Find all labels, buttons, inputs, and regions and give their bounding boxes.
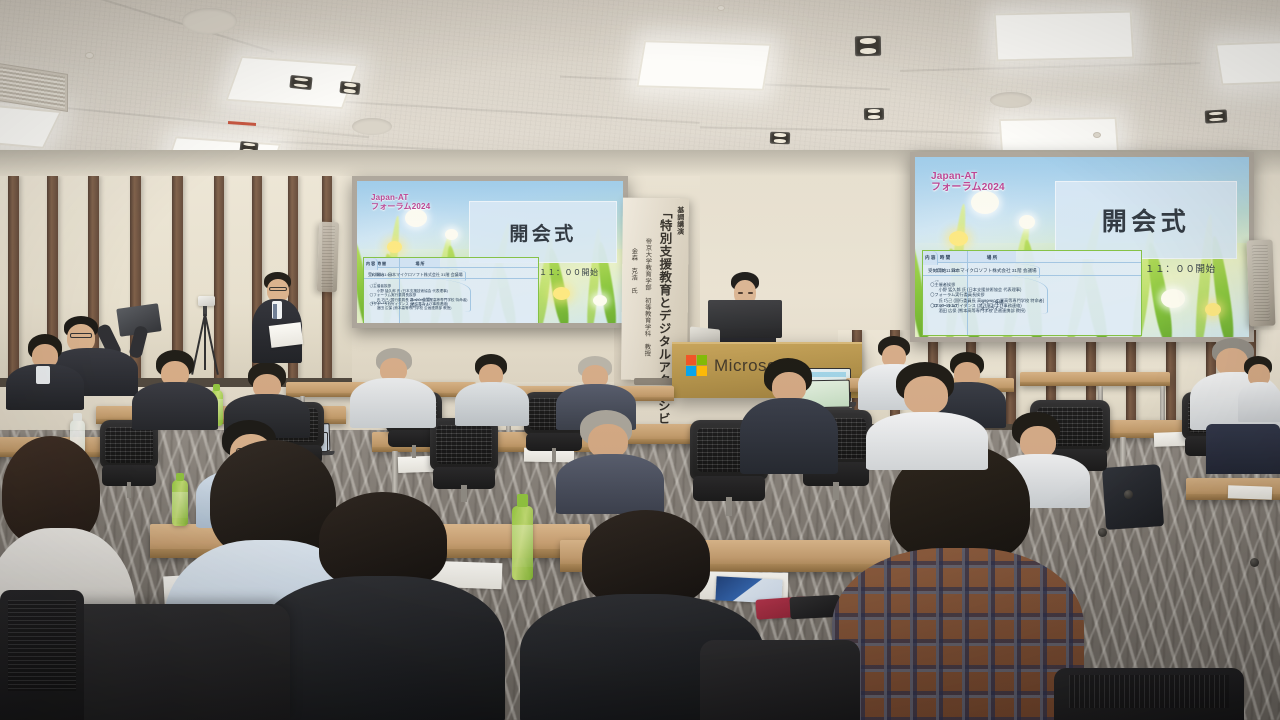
slide-logo-right: Japan-AT フォーラム2024 — [931, 172, 1005, 194]
attendee-far-right — [1238, 356, 1280, 422]
wall-speaker-left — [317, 222, 339, 293]
held-document — [269, 322, 303, 348]
smoke-detector — [1093, 132, 1101, 138]
chair-foreground-left — [60, 604, 290, 720]
conference-room-photo: Japan-AT フォーラム2024 開会式 １１：００開始 時 間 内 容 場… — [0, 0, 1280, 720]
wall-speaker-right — [1247, 240, 1276, 327]
smoke-detector — [85, 52, 94, 59]
chair-foreground-far-left — [0, 590, 84, 720]
attendee-front-plaid-shirt — [832, 444, 1084, 720]
staff-reading-document — [250, 272, 304, 368]
chair-foreground-center — [700, 640, 860, 720]
attendee-mid-center — [556, 410, 664, 512]
table-header-row: 時 間 内 容 場 所 — [364, 258, 538, 268]
slide-schedule-table-left: 時 間 内 容 場 所 10:30-11:00 受付開始 日本マイクロソフト株式… — [363, 257, 539, 323]
banner-speaker: 金森 克浩 氏 — [629, 248, 638, 294]
slide-right: Japan-AT フォーラム2024 開会式 １１：００開始 時 間 内 容 場… — [915, 157, 1249, 337]
chair-caster — [1124, 490, 1133, 499]
ceiling-diffuser — [352, 118, 392, 135]
slide-schedule-table-right: 時 間 内 容 場 所 10:30-11:00 受付開始 日本マイクロソフト株式… — [922, 250, 1142, 336]
slide-logo-left: Japan-AT フォーラム2024 — [371, 194, 430, 211]
ceiling-light-panel — [636, 40, 771, 91]
table-header-row: 時 間 内 容 場 所 — [923, 251, 1141, 263]
ceiling-diffuser — [182, 8, 237, 34]
table-row: 11:00-11:10 開会式 〇主催者挨拶 小野 猛久郎 氏 (日本支援技術協… — [364, 279, 538, 323]
ceiling-diffuser — [990, 92, 1032, 108]
smoke-detector — [717, 5, 725, 11]
microsoft-logo — [686, 355, 707, 376]
table-row: 10:30-11:00 受付開始 日本マイクロソフト株式会社 31階 会議場 — [364, 268, 538, 279]
projection-screen-right: Japan-AT フォーラム2024 開会式 １１：００開始 時 間 内 容 場… — [910, 152, 1254, 342]
slide-left: Japan-AT フォーラム2024 開会式 １１：００開始 時 間 内 容 場… — [357, 181, 623, 323]
table-row: 10:30-11:00 受付開始 日本マイクロソフト株式会社 31階 会議場 — [923, 263, 1141, 276]
ceiling-light-panel — [1215, 41, 1280, 86]
attendee-back-left-1 — [6, 334, 84, 410]
attendee-back-left-2 — [132, 350, 218, 428]
attendee-front-dark-suit — [255, 492, 505, 720]
slide-start-note-right: １１：００開始 — [1145, 261, 1216, 275]
ceiling-spotlight — [339, 81, 360, 95]
ceiling-spotlight — [864, 108, 884, 120]
projection-screen-left: Japan-AT フォーラム2024 開会式 １１：００開始 時 間 内 容 場… — [352, 176, 628, 328]
chair-caster — [1250, 558, 1259, 567]
attendee-center-back-2 — [455, 354, 529, 426]
attendee-right-white-shirt — [866, 362, 988, 468]
attendee-center-back-1 — [350, 348, 436, 428]
backpack — [1102, 464, 1164, 530]
program-handout — [1228, 485, 1272, 500]
ceiling-spotlight — [289, 75, 312, 90]
ceiling-spotlight — [855, 36, 881, 56]
slide-title-card-left: 開会式 — [469, 201, 617, 263]
slide-start-note-left: １１：００開始 — [539, 267, 599, 278]
banner-affiliation: 帝京大学教育学部 初等教育学科 教授 — [642, 238, 652, 357]
ceiling-spotlight — [770, 132, 790, 145]
chair — [430, 418, 498, 502]
video-camera — [198, 296, 215, 306]
chair-foreground-right — [1054, 668, 1244, 720]
eyeglasses — [269, 287, 287, 291]
attendee-near-podium — [740, 358, 838, 474]
table-row: 11:00-11:10 開会式 〇主催者挨拶 小野 猛久郎 氏 (日本支援技術協… — [923, 276, 1141, 335]
chair-caster — [1098, 528, 1107, 537]
desk-right-far — [1020, 372, 1170, 386]
slide-title-card-right: 開会式 — [1055, 181, 1237, 259]
attendee-right-trousers — [1206, 424, 1280, 474]
ceiling-spotlight — [1205, 109, 1228, 123]
banner-kicker: 基調講演 — [675, 206, 685, 235]
ceiling-light-panel — [994, 11, 1135, 62]
